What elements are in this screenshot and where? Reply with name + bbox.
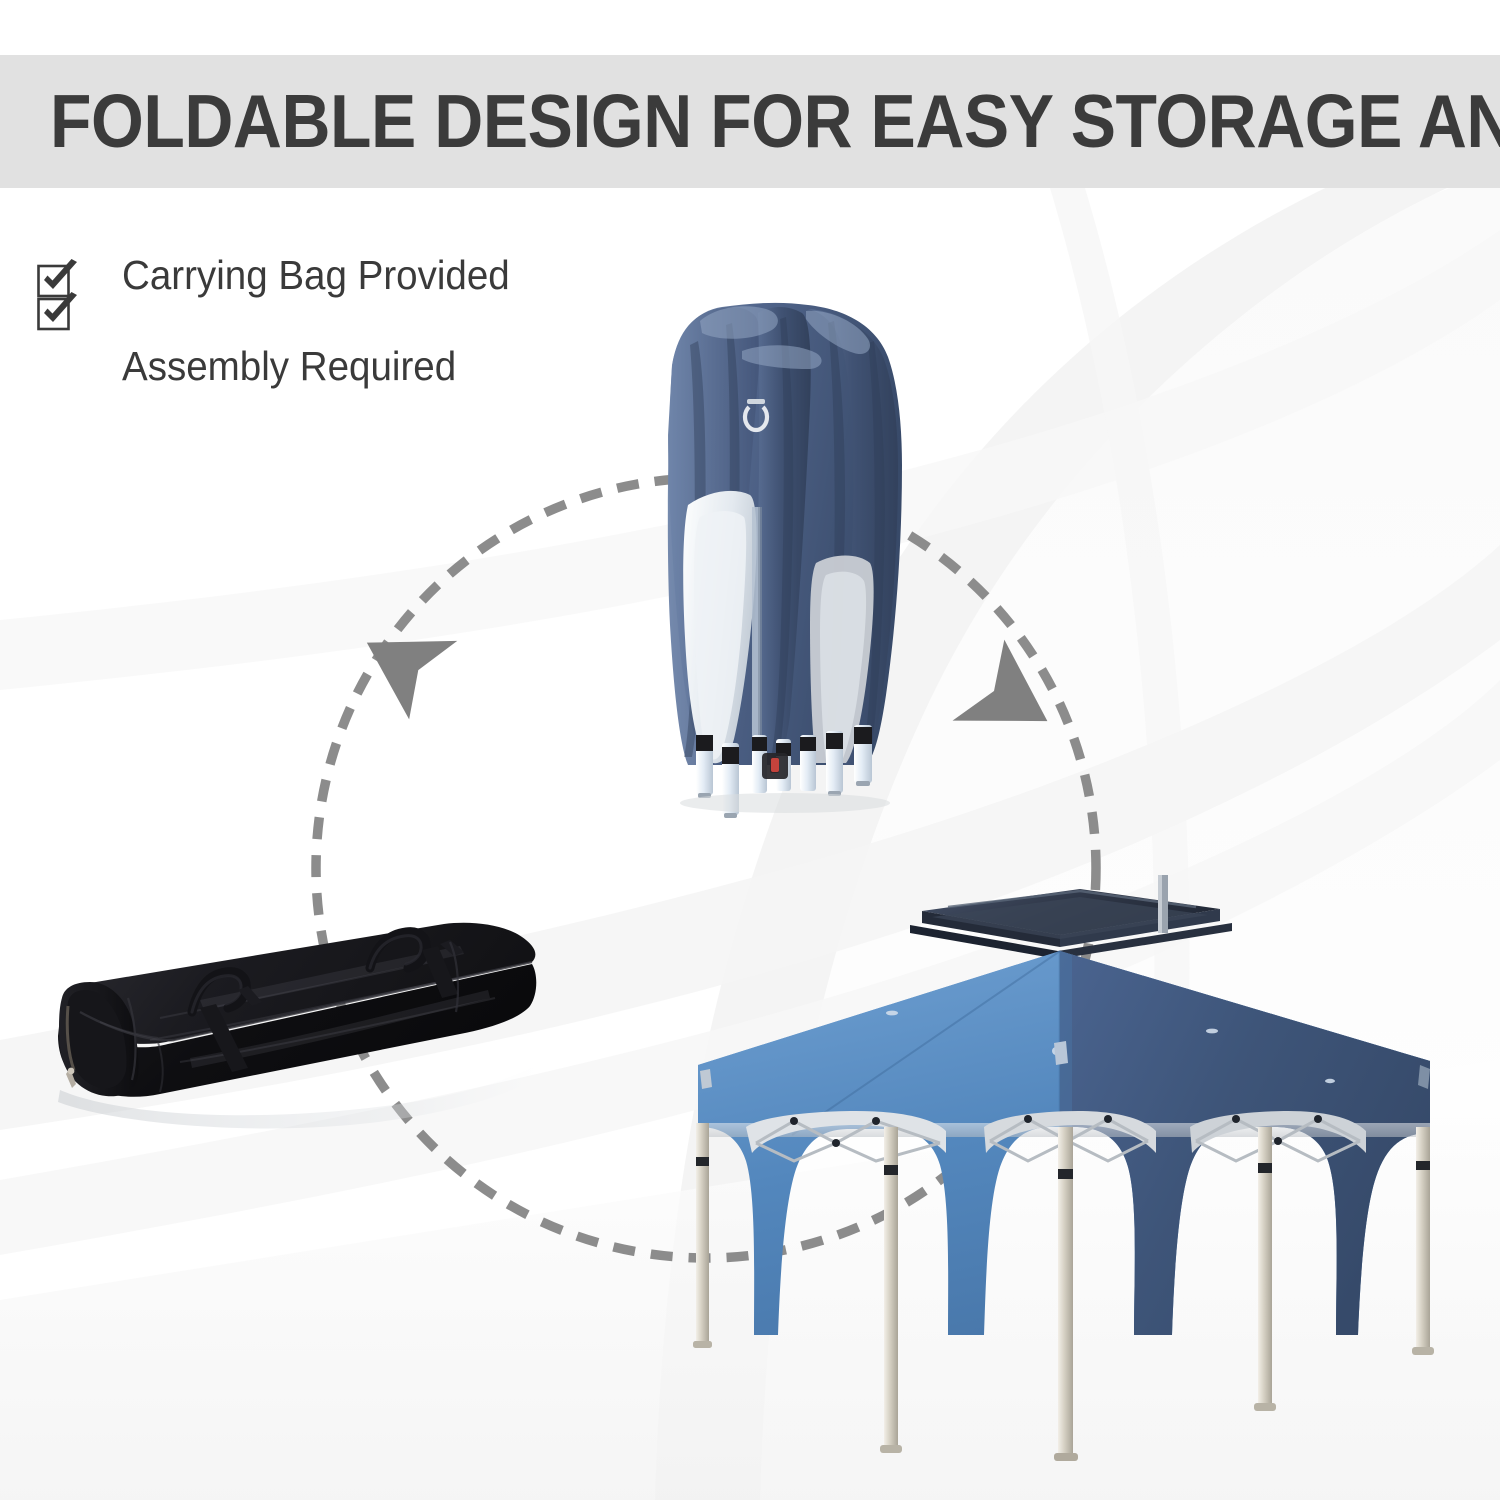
folded-canopy-image xyxy=(630,295,950,825)
canopy-leg xyxy=(1412,1127,1434,1355)
canopy-leg xyxy=(880,1127,902,1453)
canopy-leg xyxy=(693,1123,712,1348)
canopy-leg xyxy=(1054,1127,1078,1461)
canopy-legs xyxy=(693,1123,1434,1461)
infographic-canvas: FOLDABLE DESIGN FOR EASY STORAGE AND TRA… xyxy=(0,0,1500,1500)
roof-vent-cap xyxy=(910,875,1232,959)
canopy-leg xyxy=(1254,1127,1276,1411)
erected-canopy-image xyxy=(660,865,1450,1465)
carrying-bag-image xyxy=(40,890,570,1140)
arrow-down-right-icon xyxy=(949,640,1071,766)
